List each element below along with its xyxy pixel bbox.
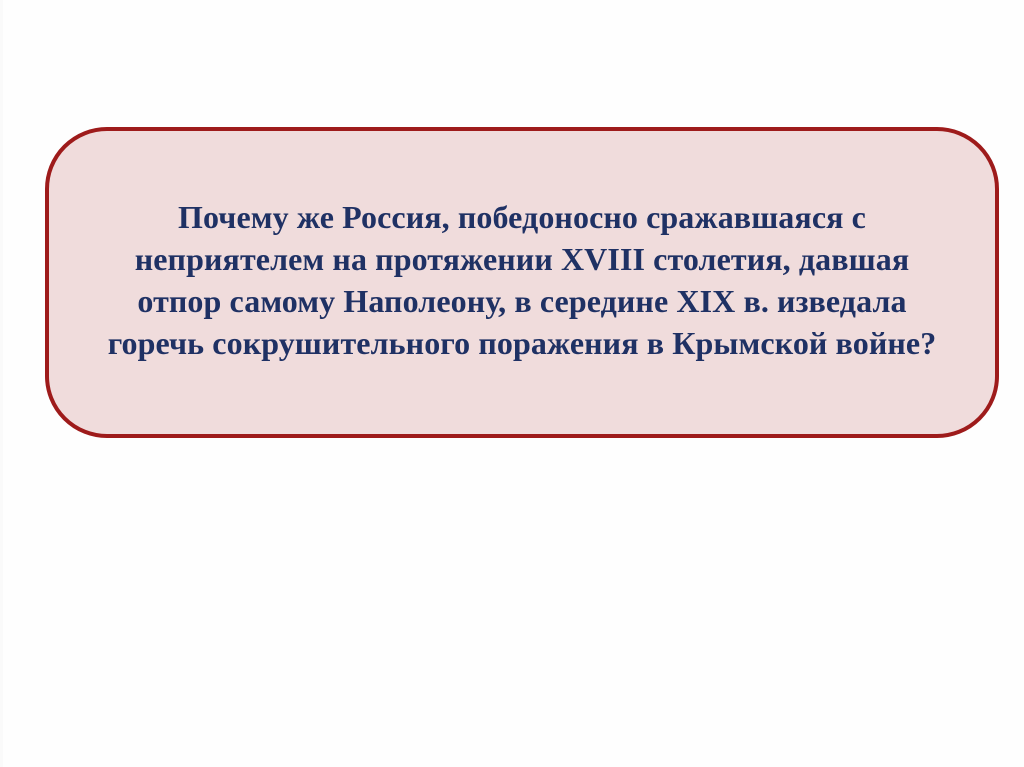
question-callout-box: Почему же Россия, победоносно сражавшаяс… — [45, 127, 999, 438]
slide-canvas: Почему же Россия, победоносно сражавшаяс… — [0, 0, 1024, 767]
question-text: Почему же Россия, победоносно сражавшаяс… — [82, 196, 962, 370]
